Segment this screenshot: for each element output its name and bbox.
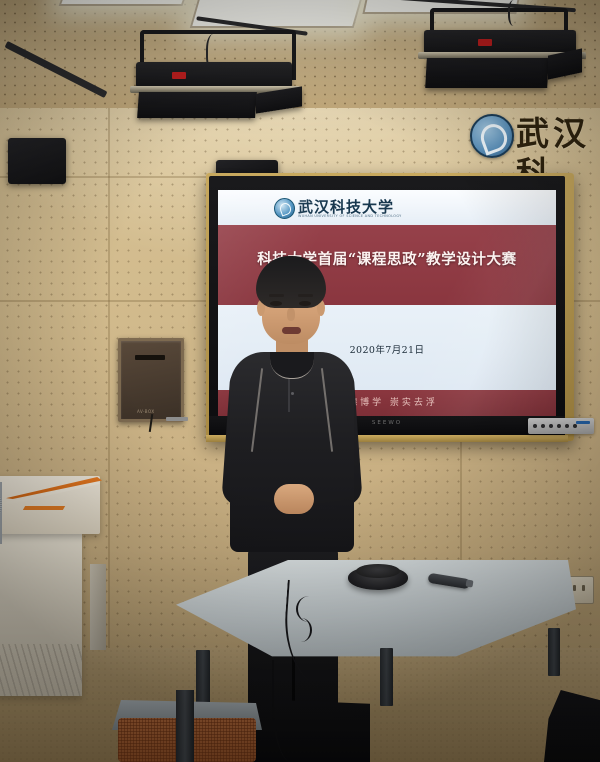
foreground-object: [250, 700, 370, 762]
wall-speaker: [8, 138, 66, 184]
control-button[interactable]: [565, 424, 569, 428]
podium-vent: [0, 644, 82, 696]
control-button[interactable]: [557, 424, 561, 428]
control-button[interactable]: [541, 424, 545, 428]
barn-door: [137, 92, 257, 118]
podium-side-module: [0, 482, 2, 544]
presenter-hands: [274, 484, 314, 514]
outlet-pin: [582, 585, 585, 591]
table-leg: [548, 628, 560, 676]
light-brand-plate: [172, 72, 186, 79]
control-indicator: [576, 421, 590, 424]
presenter-eye: [270, 301, 282, 306]
photo-scene: 武汉科 AV-BOX 武汉科技大学 WUHAN UNIVERSITY OF SC…: [0, 0, 600, 762]
podium-body: [0, 532, 82, 696]
control-button[interactable]: [549, 424, 553, 428]
wust-crest-icon: [274, 198, 295, 219]
presenter-hair: [256, 256, 326, 308]
podium-accent-stripe: [23, 506, 65, 510]
chair-post: [176, 690, 194, 762]
wall-signage: 武汉科: [466, 106, 600, 162]
table-leg: [380, 648, 393, 706]
podium[interactable]: [0, 476, 110, 696]
control-button[interactable]: [573, 424, 577, 428]
presenter-mouth: [282, 327, 301, 334]
presenter-eyebrow: [269, 294, 284, 297]
light-cable: [508, 0, 522, 26]
remote-tip: [465, 579, 473, 587]
display-control-panel[interactable]: [528, 418, 594, 434]
presenter-nose: [287, 308, 295, 321]
university-crest-icon: [470, 114, 514, 158]
light-housing: [136, 62, 292, 88]
slide-header-subtitle: WUHAN UNIVERSITY OF SCIENCE AND TECHNOLO…: [298, 214, 402, 218]
barn-door: [425, 58, 549, 88]
speakerphone-cable: [290, 618, 312, 642]
light-brand-plate: [478, 39, 492, 46]
presenter-torso: [230, 352, 354, 552]
presenter-eyebrow: [298, 294, 313, 297]
shirt-button: [291, 392, 294, 395]
wall-equipment-panel[interactable]: AV-BOX: [118, 338, 184, 422]
podium-stand: [90, 564, 106, 650]
speakerphone-top: [356, 564, 400, 578]
display-bezel-tag: [166, 417, 188, 421]
presenter-eye: [299, 301, 311, 306]
led-ceiling-light: [59, 0, 194, 6]
panel-slot: [135, 355, 165, 360]
slide-header: 武汉科技大学 WUHAN UNIVERSITY OF SCIENCE AND T…: [218, 190, 556, 225]
light-housing: [424, 30, 576, 54]
control-button[interactable]: [533, 424, 537, 428]
led-ceiling-light: [190, 0, 367, 28]
